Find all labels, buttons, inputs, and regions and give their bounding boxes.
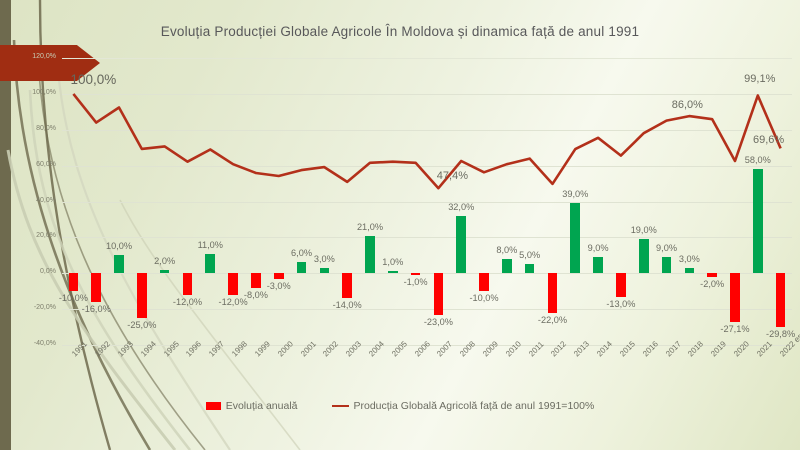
line-label: 69,6% xyxy=(753,134,784,146)
line-swatch-icon xyxy=(332,405,349,408)
legend-label-index: Producția Globală Agricolă față de anul … xyxy=(354,400,595,412)
line-label: 100,0% xyxy=(71,72,117,87)
line-label: 86,0% xyxy=(672,99,703,111)
line-label: 47,4% xyxy=(437,170,468,182)
chart-plot-area: -40,0%-20,0%0,0%20,0%40,0%60,0%80,0%100,… xyxy=(0,0,800,450)
legend-label-annual: Evoluția anuală xyxy=(226,400,298,412)
bar-swatch-icon xyxy=(206,402,221,410)
legend-item-annual[interactable]: Evoluția anuală xyxy=(206,400,298,412)
line-series-layer xyxy=(0,0,800,450)
slide-canvas: Evoluția Producției Globale Agricole În … xyxy=(0,0,800,450)
chart-legend: Evoluția anuală Producția Globală Agrico… xyxy=(0,400,800,412)
legend-item-index[interactable]: Producția Globală Agricolă față de anul … xyxy=(332,400,595,412)
line-label: 99,1% xyxy=(744,73,775,85)
